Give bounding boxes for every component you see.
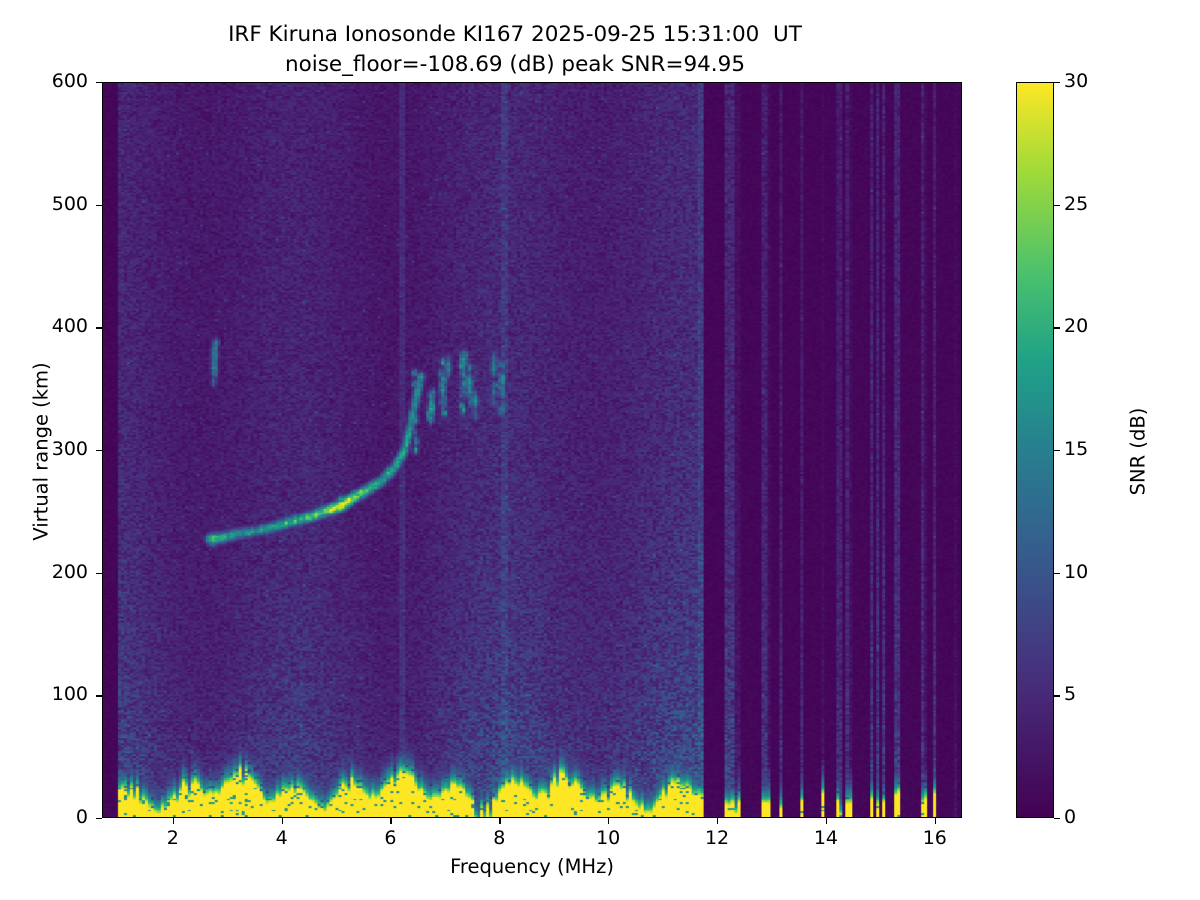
colorbar-tick (1054, 82, 1060, 83)
x-tick-label: 12 (687, 827, 747, 849)
x-tick (390, 818, 391, 824)
colorbar-tick-label: 0 (1064, 806, 1076, 828)
y-tick (96, 818, 102, 819)
colorbar-tick (1054, 573, 1060, 574)
colorbar-tick-label: 15 (1064, 438, 1088, 460)
colorbar-tick (1054, 327, 1060, 328)
colorbar-tick (1054, 205, 1060, 206)
x-tick-label: 14 (796, 827, 856, 849)
colorbar-tick-label: 20 (1064, 315, 1088, 337)
x-tick (826, 818, 827, 824)
y-tick (96, 82, 102, 83)
ionogram-plot-area (102, 82, 962, 818)
x-tick-label: 16 (905, 827, 965, 849)
colorbar-tick (1054, 450, 1060, 451)
colorbar-tick-label: 30 (1064, 70, 1088, 92)
colorbar-tick-label: 5 (1064, 683, 1076, 705)
y-tick (96, 205, 102, 206)
colorbar (1016, 82, 1054, 818)
ionogram-figure: IRF Kiruna Ionosonde KI167 2025-09-25 15… (0, 0, 1200, 900)
y-tick (96, 695, 102, 696)
x-tick-label: 6 (360, 827, 420, 849)
y-tick-label: 100 (26, 683, 88, 705)
colorbar-tick-label: 10 (1064, 561, 1088, 583)
x-tick (499, 818, 500, 824)
ionogram-heatmap (103, 83, 961, 817)
title-line-1: IRF Kiruna Ionosonde KI167 2025-09-25 15… (228, 22, 802, 47)
chart-title: IRF Kiruna Ionosonde KI167 2025-09-25 15… (0, 20, 1030, 80)
x-tick-label: 8 (469, 827, 529, 849)
x-tick-label: 4 (252, 827, 312, 849)
x-tick (282, 818, 283, 824)
colorbar-tick (1054, 818, 1060, 819)
y-tick (96, 450, 102, 451)
x-tick-label: 10 (578, 827, 638, 849)
colorbar-tick (1054, 695, 1060, 696)
y-tick-label: 500 (26, 193, 88, 215)
y-axis-label: Virtual range (km) (30, 332, 53, 572)
x-tick (935, 818, 936, 824)
x-axis-label: Frequency (MHz) (102, 855, 962, 878)
x-tick-label: 2 (143, 827, 203, 849)
colorbar-tick-label: 25 (1064, 193, 1088, 215)
y-tick-label: 0 (26, 806, 88, 828)
y-tick (96, 573, 102, 574)
x-tick (608, 818, 609, 824)
colorbar-label: SNR (dB) (1127, 332, 1150, 572)
y-tick (96, 327, 102, 328)
x-tick (717, 818, 718, 824)
title-line-2: noise_floor=-108.69 (dB) peak SNR=94.95 (285, 52, 745, 77)
y-tick-label: 600 (26, 70, 88, 92)
x-tick (173, 818, 174, 824)
